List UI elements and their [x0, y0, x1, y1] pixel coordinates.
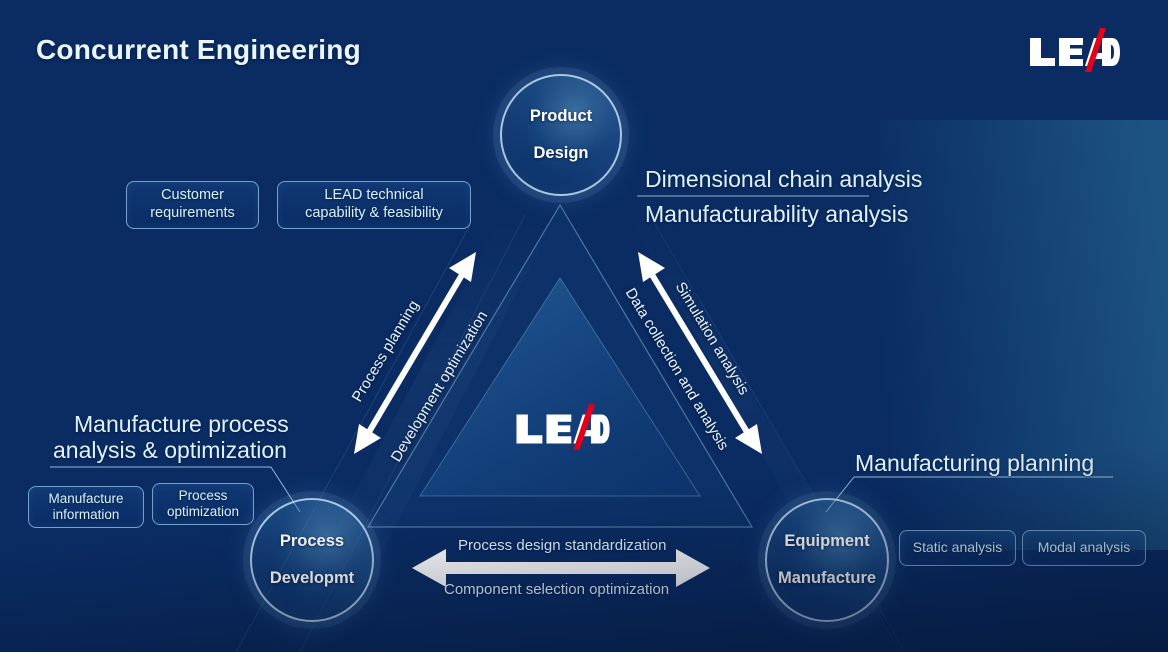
tagbox-manufacture-information[interactable]: Manufacture information: [28, 486, 144, 528]
tagbox-line1: LEAD technical: [324, 187, 423, 203]
tagbox-line1: Process: [179, 488, 228, 503]
node-process-development[interactable]: Process Developmt: [250, 498, 374, 622]
slide-canvas: Concurrent Engineering: [0, 0, 1168, 652]
callout-dimensional-chain-analysis: Dimensional chain analysis: [645, 166, 922, 193]
node-label-line1: Product: [524, 107, 598, 125]
tagbox-line1: Static analysis: [913, 539, 1002, 556]
arrow-label-process-design-standardization: Process design standardization: [458, 537, 666, 554]
node-label-line1: Equipment: [772, 532, 882, 550]
arrow-label-component-selection-optimization: Component selection optimization: [444, 581, 669, 598]
arrow-label-text: Process design standardization: [458, 537, 666, 554]
tagbox-process-optimization[interactable]: Process optimization: [152, 483, 254, 525]
node-product-design[interactable]: Product Design: [500, 74, 622, 196]
lead-logo-header: [1028, 22, 1120, 80]
node-label-line2: Developmt: [264, 569, 360, 587]
lead-logo-icon: [514, 398, 610, 458]
tagbox-line2: information: [53, 507, 120, 522]
tagbox-line1: Manufacture: [48, 491, 123, 506]
callout-text: analysis & optimization: [53, 437, 287, 463]
node-label-line2: Design: [524, 144, 598, 162]
callout-manufacture-process-l2: analysis & optimization: [53, 437, 287, 464]
node-label-line1: Process: [264, 532, 360, 550]
node-equipment-manufacture[interactable]: Equipment Manufacture: [765, 498, 889, 622]
page-title: Concurrent Engineering: [36, 34, 361, 66]
lead-logo-icon: [1028, 22, 1120, 80]
callout-text: Manufacture process: [74, 411, 289, 437]
callout-text: Manufacturing planning: [855, 450, 1094, 476]
tagbox-line2: requirements: [150, 205, 235, 221]
arrow-label-text: Component selection optimization: [444, 581, 669, 598]
lead-logo-center: [514, 398, 610, 458]
tagbox-line1: Modal analysis: [1038, 539, 1131, 556]
callout-text: Dimensional chain analysis: [645, 166, 922, 192]
callout-manufacture-process-l1: Manufacture process: [74, 411, 289, 438]
tagbox-modal-analysis[interactable]: Modal analysis: [1022, 530, 1146, 566]
callout-manufacturing-planning: Manufacturing planning: [855, 450, 1094, 477]
tagbox-lead-technical-capability[interactable]: LEAD technical capability & feasibility: [277, 181, 471, 229]
callout-text: Manufacturability analysis: [645, 201, 908, 227]
node-label-line2: Manufacture: [772, 569, 882, 587]
callout-manufacturability-analysis: Manufacturability analysis: [645, 201, 908, 228]
tagbox-line1: Customer: [161, 187, 224, 203]
tagbox-line2: optimization: [167, 504, 239, 519]
tagbox-customer-requirements[interactable]: Customer requirements: [126, 181, 259, 229]
tagbox-line2: capability & feasibility: [305, 205, 443, 221]
tagbox-static-analysis[interactable]: Static analysis: [899, 530, 1016, 566]
